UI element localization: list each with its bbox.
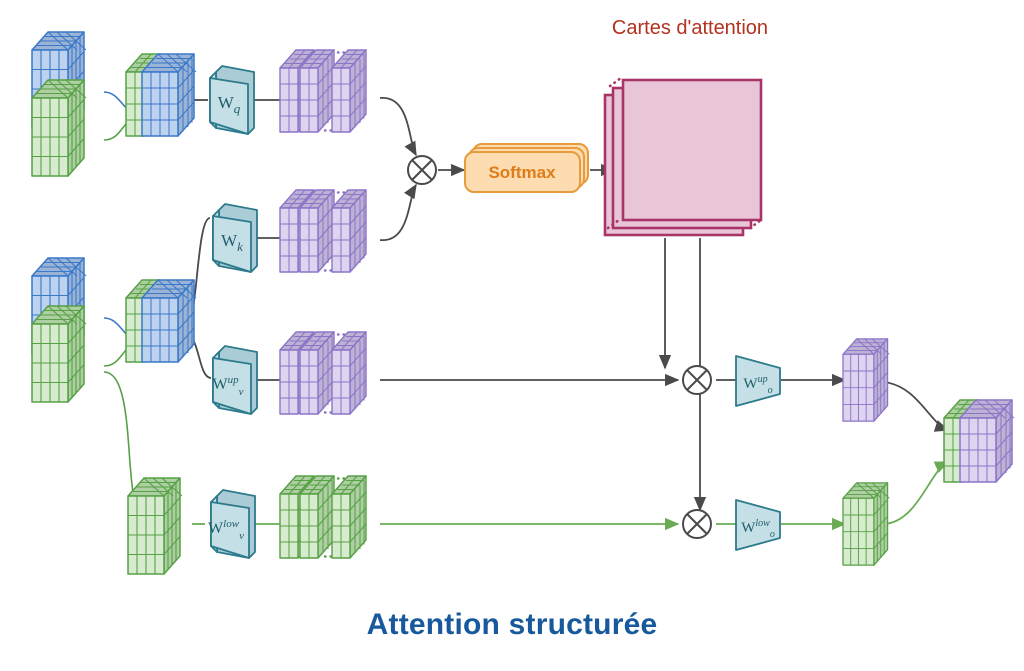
attention-maps-stack[interactable]: [605, 78, 761, 235]
tensor-query-heads: [280, 50, 366, 132]
tensor-merged-kv: [126, 280, 196, 362]
tensor-input-kv-green: [32, 306, 86, 402]
tensor-input-query-green: [32, 80, 86, 176]
tensor-value-low-heads: [280, 476, 366, 558]
softmax-label: Softmax: [488, 163, 556, 182]
projection-wq[interactable]: Wq: [210, 66, 254, 134]
tensor-output-up: [843, 339, 889, 421]
attention-maps-caption: Cartes d'attention: [600, 16, 780, 41]
figure-title: Attention structurée: [0, 608, 1024, 642]
tensor-value-up-heads: [280, 332, 366, 414]
tensor-merged-query: [126, 54, 196, 136]
mul-qk-operator[interactable]: [408, 156, 436, 184]
tensor-final-output: [944, 400, 1014, 482]
attention-diagram-svg: Softmax Wq Wk Wupv: [0, 0, 1024, 671]
projection-wv-up[interactable]: Wupv: [213, 346, 258, 414]
softmax-node[interactable]: Softmax: [465, 144, 588, 192]
mul-attention-value-low-operator[interactable]: [683, 510, 711, 538]
mul-attention-value-up-operator[interactable]: [683, 366, 711, 394]
projection-wo-low[interactable]: Wlowo: [736, 500, 780, 550]
projection-wo-up[interactable]: Wupo: [736, 356, 780, 406]
tensor-output-low: [843, 483, 889, 565]
projection-wk[interactable]: Wk: [213, 204, 257, 272]
tensor-key-heads: [280, 190, 366, 272]
projection-wv-low[interactable]: Wlowv: [208, 490, 255, 558]
diagram-canvas: Softmax Wq Wk Wupv: [0, 0, 1024, 671]
tensor-value-low-input: [128, 478, 182, 574]
